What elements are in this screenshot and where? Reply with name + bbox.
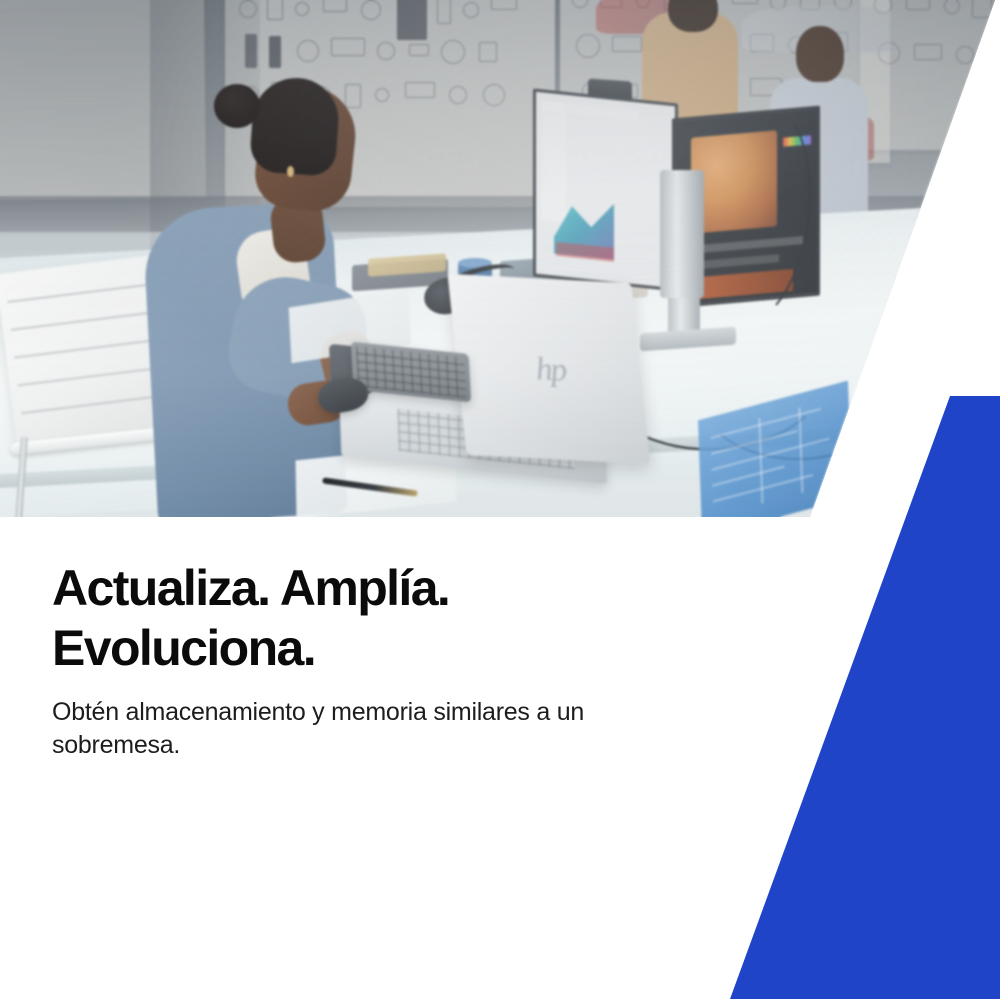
external-monitor [533, 88, 678, 291]
page-subtitle: Obtén almacenamiento y memoria similares… [52, 696, 652, 762]
photo-canvas: hp [0, 0, 1000, 517]
hero-image: hp [0, 0, 1000, 517]
background-person-grey-shirt [796, 26, 844, 82]
page-title: Actualiza. Amplía. Evoluciona. [52, 558, 652, 678]
promo-banner: hp Actualiza. Amplía. Evoluciona. Obtén … [0, 0, 1000, 999]
copy-block: Actualiza. Amplía. Evoluciona. Obtén alm… [52, 558, 652, 762]
earring [287, 166, 294, 177]
hp-logo: hp [534, 352, 567, 390]
seated-woman-hair-bun [214, 84, 260, 128]
